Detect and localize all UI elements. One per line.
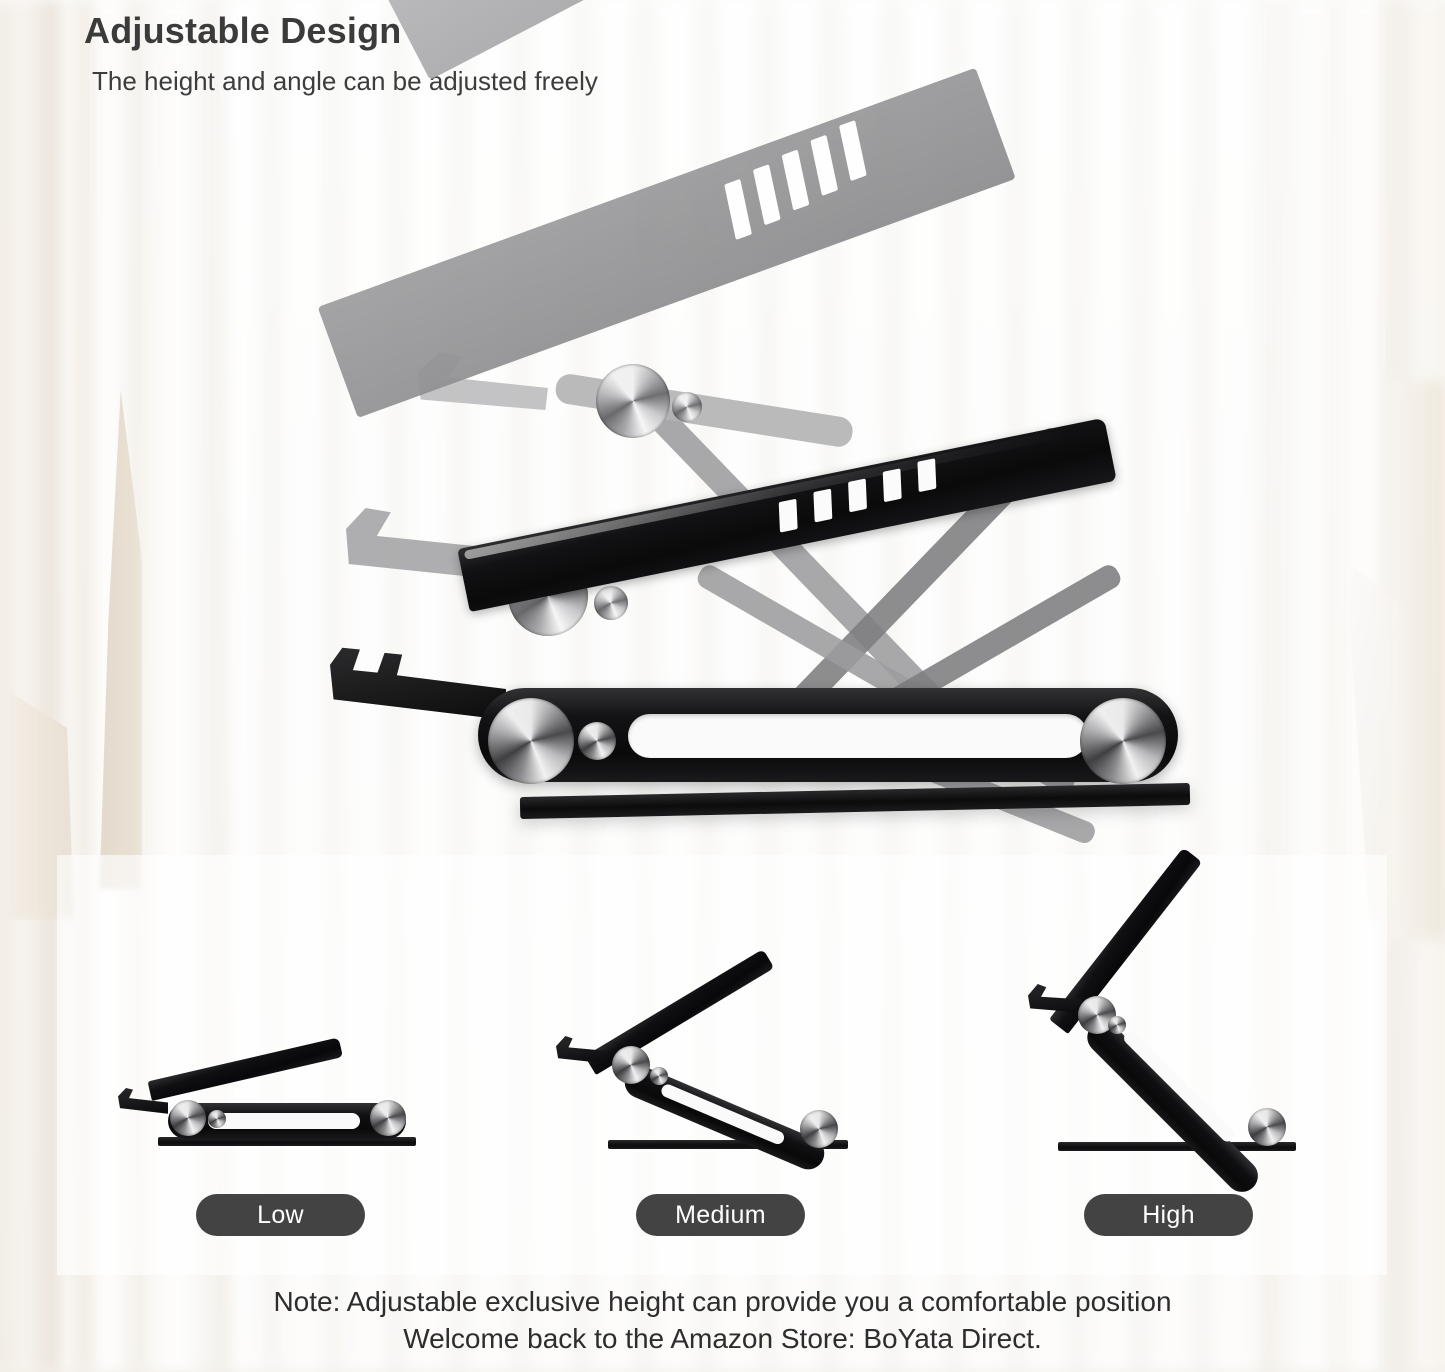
vent-slot bbox=[779, 499, 798, 533]
pivot-disc-bottom bbox=[1248, 1108, 1286, 1146]
footer-note: Note: Adjustable exclusive height can pr… bbox=[0, 1283, 1445, 1357]
vent-slot bbox=[810, 135, 838, 196]
mini-arm-cutout bbox=[208, 1113, 360, 1129]
position-label-text: Medium bbox=[675, 1201, 766, 1230]
main-base-plate bbox=[520, 783, 1190, 819]
pivot-disc-mid bbox=[208, 1110, 226, 1128]
position-label-low: Low bbox=[196, 1194, 365, 1236]
vent-slot bbox=[839, 120, 867, 181]
ghost-medium-tray bbox=[318, 68, 1016, 418]
vent-slot bbox=[753, 164, 781, 225]
product-infographic: Adjustable Design The height and angle c… bbox=[0, 0, 1445, 1372]
ghost-high-tray bbox=[375, 0, 1042, 80]
pivot-disc-top bbox=[612, 1046, 650, 1084]
main-tray bbox=[457, 418, 1117, 612]
pivot-disc-left bbox=[170, 1100, 206, 1136]
footer-note-line-2: Welcome back to the Amazon Store: BoYata… bbox=[0, 1320, 1445, 1357]
position-label-text: Low bbox=[257, 1201, 304, 1230]
hero-product-illustration bbox=[0, 0, 1445, 880]
pivot-disc-mid bbox=[578, 722, 616, 760]
pivot-disc bbox=[596, 364, 670, 438]
vent-slot bbox=[883, 468, 902, 502]
pivot-disc-left bbox=[488, 698, 574, 784]
pivot-disc-bottom bbox=[800, 1110, 838, 1148]
pivot-disc-mid bbox=[1108, 1016, 1126, 1034]
vent-slot bbox=[917, 458, 936, 492]
tray-gloss-highlight bbox=[464, 429, 1067, 560]
pivot-disc-small bbox=[594, 586, 628, 620]
position-label-medium: Medium bbox=[636, 1194, 805, 1236]
position-label-text: High bbox=[1142, 1201, 1195, 1230]
pivot-disc-right bbox=[1080, 698, 1166, 784]
position-label-high: High bbox=[1084, 1194, 1253, 1236]
vent-slot bbox=[782, 149, 810, 210]
arm-cutout bbox=[628, 714, 1088, 758]
pivot-disc-right bbox=[370, 1100, 406, 1136]
footer-note-line-1: Note: Adjustable exclusive height can pr… bbox=[0, 1283, 1445, 1320]
vent-slot bbox=[848, 478, 867, 512]
pivot-disc-mid bbox=[650, 1067, 668, 1085]
vent-slot bbox=[813, 489, 832, 523]
vent-slot bbox=[724, 179, 752, 240]
pivot-disc-small bbox=[672, 392, 702, 422]
